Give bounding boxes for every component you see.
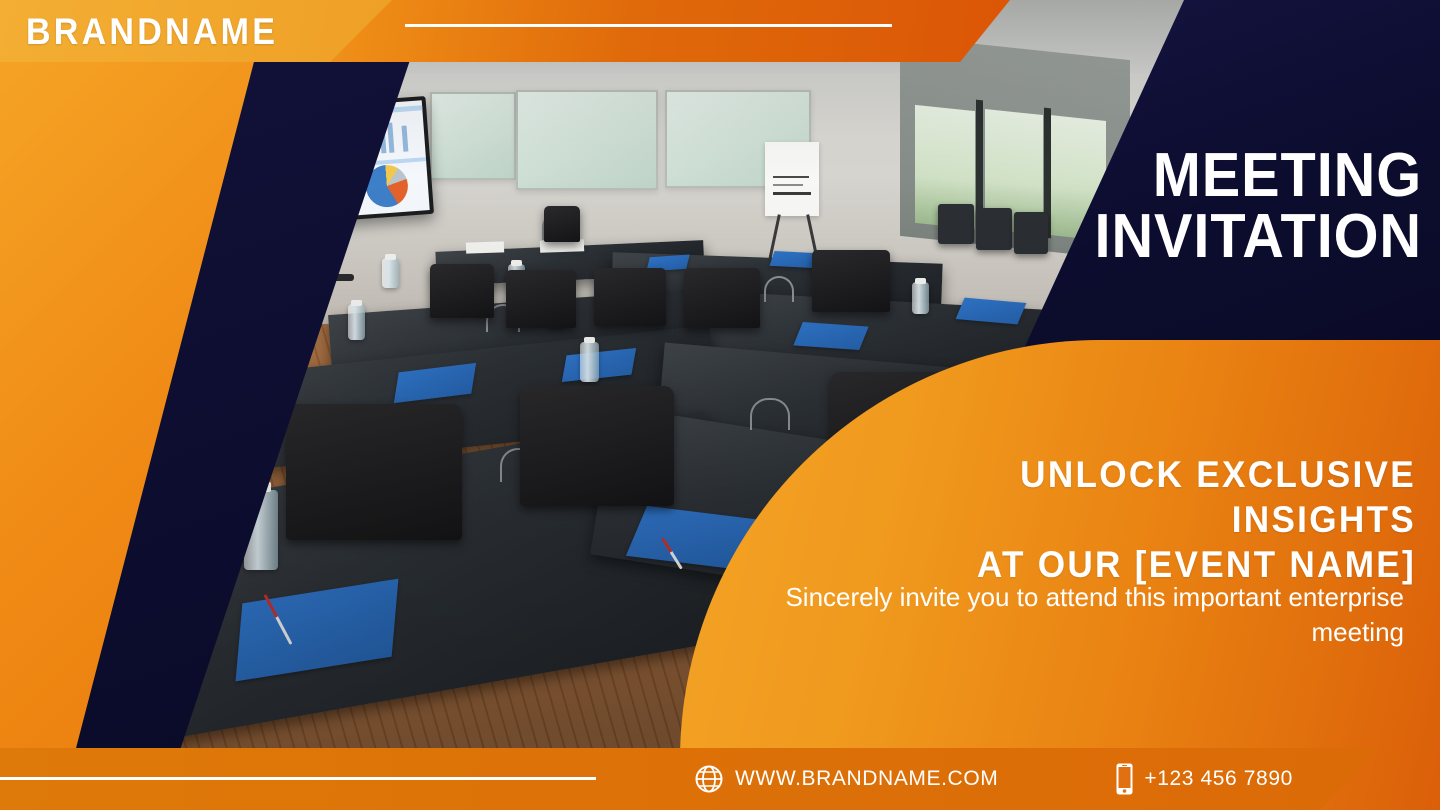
title-line-1: MEETING: [1031, 146, 1422, 207]
phone-icon: [1116, 763, 1133, 795]
website-contact[interactable]: WWW.BRANDNAME.COM: [694, 764, 998, 794]
title-line-2: INVITATION: [1031, 207, 1422, 268]
top-divider-line: [405, 24, 892, 27]
body-text: Sincerely invite you to attend this impo…: [784, 580, 1404, 649]
brand-name: BRANDNAME: [26, 11, 278, 53]
website-label: WWW.BRANDNAME.COM: [735, 767, 998, 791]
contact-info: WWW.BRANDNAME.COM +123 456 7890: [680, 748, 1440, 810]
footer-divider-line: [0, 777, 596, 780]
page-title: MEETING INVITATION: [1002, 146, 1422, 268]
subheadline-line-1: UNLOCK EXCLUSIVE INSIGHTS: [846, 452, 1416, 542]
phone-label: +123 456 7890: [1144, 767, 1293, 791]
meeting-invitation-poster: BRANDNAME MEETING INVITATION UNLOCK EXCL…: [0, 0, 1440, 810]
globe-icon: [694, 764, 724, 794]
phone-contact[interactable]: +123 456 7890: [1116, 763, 1293, 795]
subheadline: UNLOCK EXCLUSIVE INSIGHTS AT OUR [EVENT …: [816, 452, 1416, 587]
